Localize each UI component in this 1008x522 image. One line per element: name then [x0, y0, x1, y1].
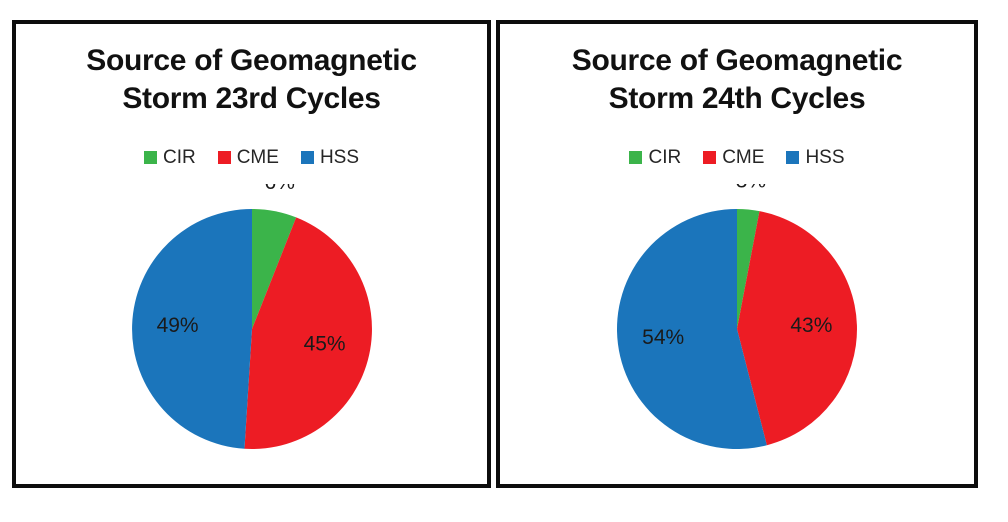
pie-chart-cycle-24: 3%43%54%	[587, 184, 887, 474]
legend-label-cme: CME	[722, 148, 764, 167]
pie-chart-cycle-23: 6%45%49%	[102, 184, 402, 474]
pie-label-cme: 43%	[790, 314, 832, 337]
legend-label-cir: CIR	[163, 148, 196, 167]
legend-swatch-cme-icon	[218, 151, 231, 164]
legend-swatch-cir-icon	[629, 151, 642, 164]
chart-panel-cycle-24: Source of Geomagnetic Storm 24th Cycles …	[496, 20, 978, 488]
figure-canvas: Source of Geomagnetic Storm 23rd Cycles …	[0, 0, 1008, 522]
legend-item-cme: CME	[703, 148, 764, 167]
pie-label-cme: 45%	[303, 333, 345, 356]
legend-item-hss: HSS	[786, 148, 844, 167]
legend-swatch-hss-icon	[301, 151, 314, 164]
legend-item-hss: HSS	[301, 148, 359, 167]
legend-label-cme: CME	[237, 148, 279, 167]
legend: CIR CME HSS	[16, 148, 487, 167]
legend-swatch-cme-icon	[703, 151, 716, 164]
legend-item-cir: CIR	[144, 148, 196, 167]
legend-label-cir: CIR	[648, 148, 681, 167]
legend-item-cir: CIR	[629, 148, 681, 167]
pie-label-cir: 6%	[264, 184, 294, 194]
legend: CIR CME HSS	[500, 148, 974, 167]
page-title: Source of Geomagnetic Storm 24th Cycles	[500, 42, 974, 118]
pie-label-hss: 54%	[642, 326, 684, 349]
legend-swatch-hss-icon	[786, 151, 799, 164]
pie-chart-area-cycle-23: 6%45%49%	[16, 184, 487, 478]
legend-item-cme: CME	[218, 148, 279, 167]
legend-label-hss: HSS	[320, 148, 359, 167]
page-title: Source of Geomagnetic Storm 23rd Cycles	[16, 42, 487, 118]
legend-label-hss: HSS	[805, 148, 844, 167]
chart-panel-cycle-23: Source of Geomagnetic Storm 23rd Cycles …	[12, 20, 491, 488]
pie-label-cir: 3%	[736, 184, 766, 192]
legend-swatch-cir-icon	[144, 151, 157, 164]
pie-label-hss: 49%	[156, 314, 198, 337]
pie-chart-area-cycle-24: 3%43%54%	[500, 184, 974, 478]
